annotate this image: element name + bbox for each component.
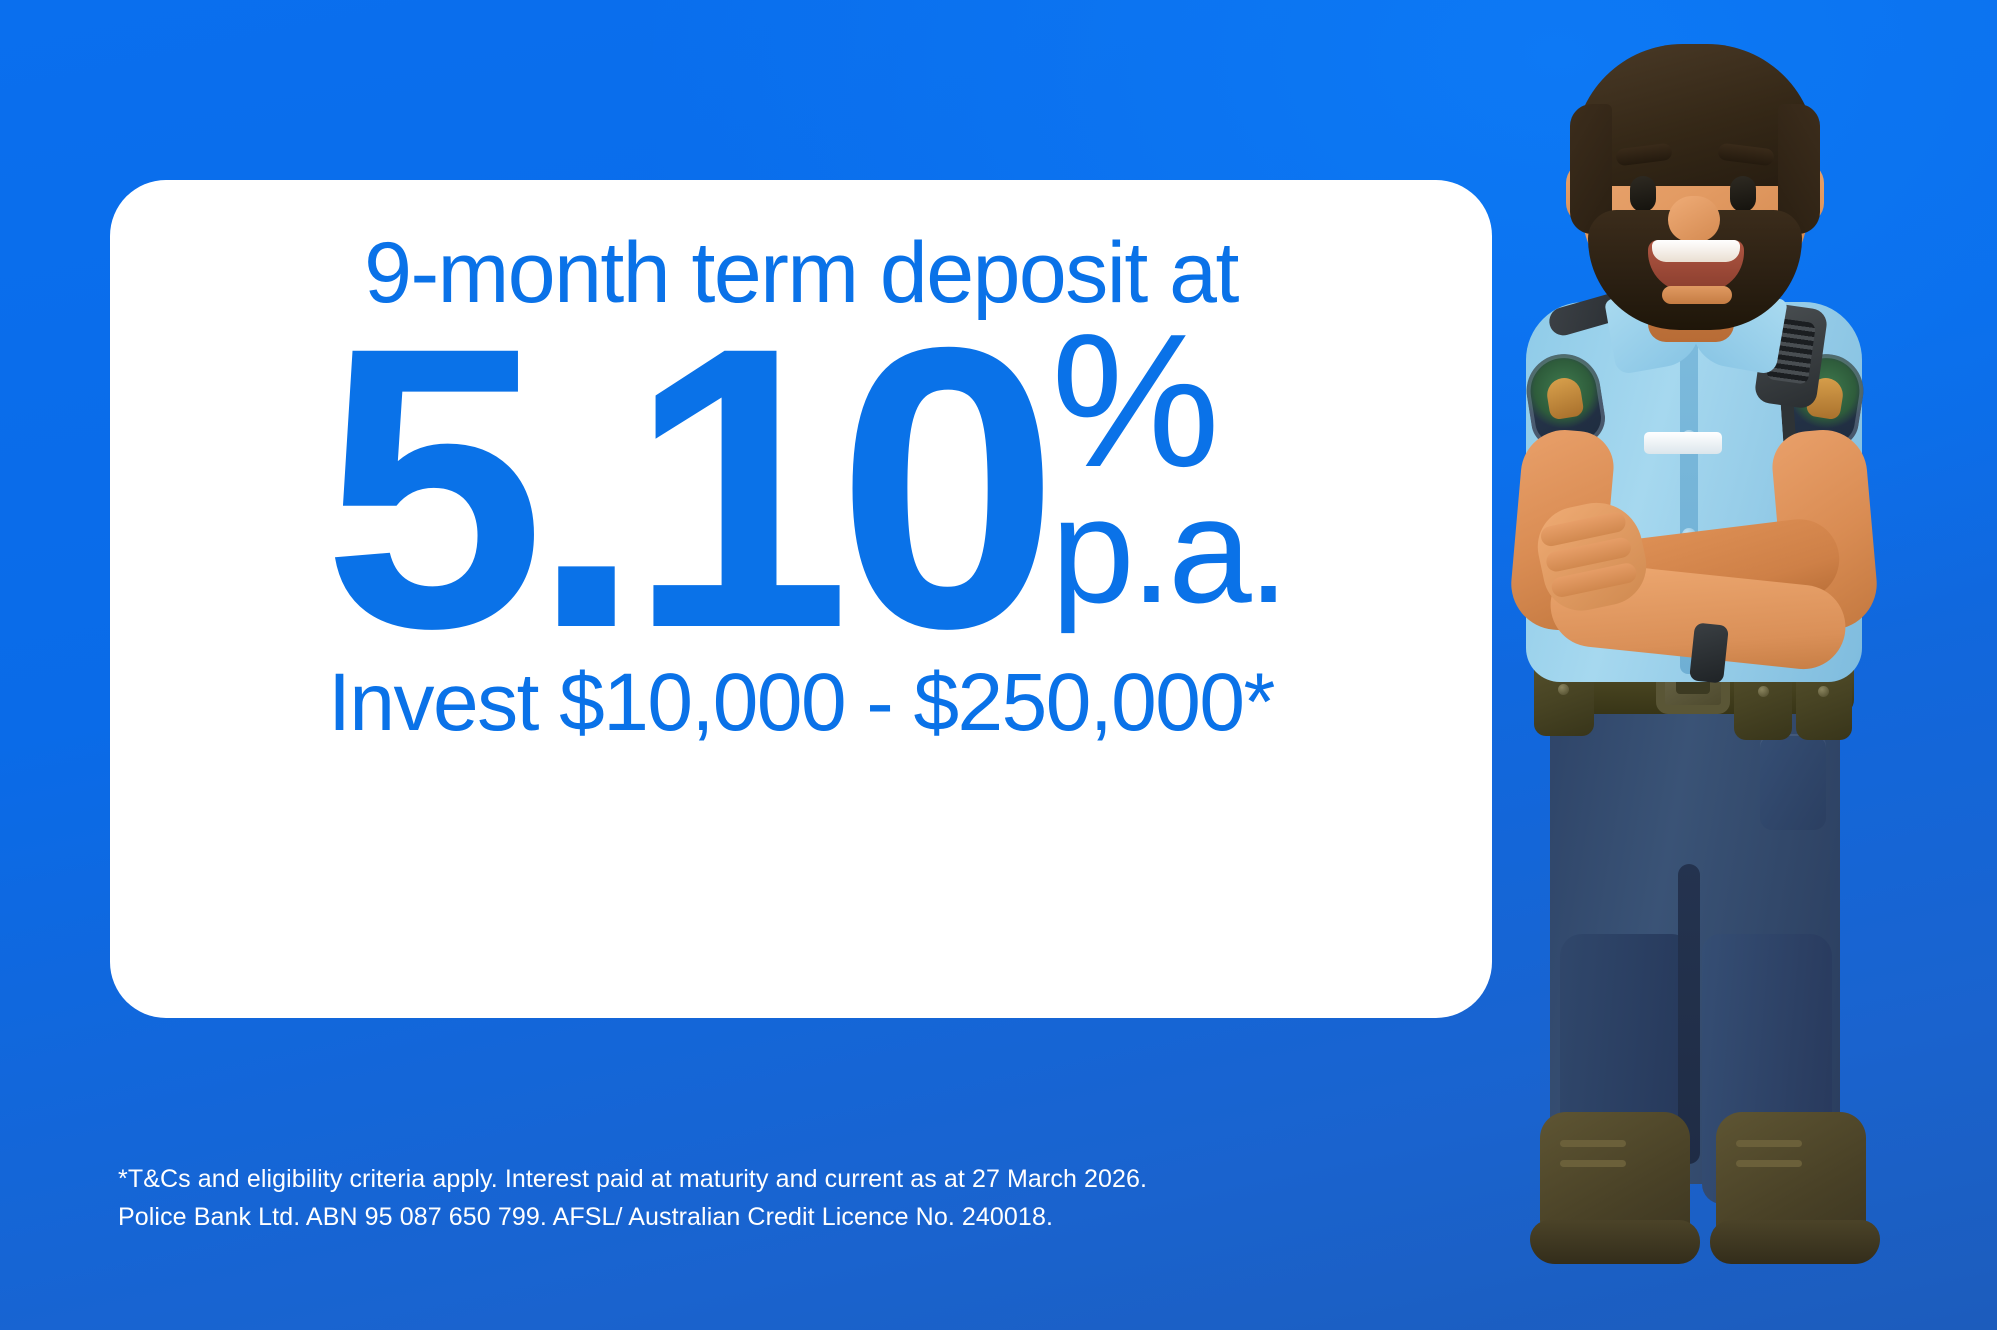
patch-crest (1545, 376, 1585, 421)
lower-lip (1662, 286, 1732, 304)
trouser-pocket (1760, 734, 1826, 830)
left-boot-sole (1530, 1220, 1700, 1264)
promo-banner: 9-month term deposit at 5.10 % p.a. Inve… (0, 0, 1997, 1330)
right-boot-sole (1710, 1220, 1880, 1264)
right-eye (1730, 176, 1756, 212)
pouch-stud (1558, 684, 1569, 695)
teeth (1652, 240, 1740, 262)
disclaimer-line-1: *T&Cs and eligibility criteria apply. In… (118, 1160, 1298, 1198)
pouch-stud (1758, 686, 1769, 697)
left-eye (1630, 176, 1656, 212)
pouch-stud (1818, 686, 1829, 697)
right-boot-lace (1736, 1140, 1802, 1147)
rate-suffix: % p.a. (1051, 318, 1285, 619)
disclaimer: *T&Cs and eligibility criteria apply. In… (118, 1160, 1298, 1236)
rate-lockup: 5.10 % p.a. (170, 312, 1432, 664)
rate-period-label: p.a. (1051, 481, 1285, 619)
name-tag (1644, 432, 1722, 454)
right-boot-lace (1736, 1160, 1802, 1167)
offer-subline: Invest $10,000 - $250,000* (328, 660, 1274, 746)
wrist-watch (1689, 622, 1729, 683)
left-boot-lace (1560, 1160, 1626, 1167)
offer-card: 9-month term deposit at 5.10 % p.a. Inve… (110, 180, 1492, 1018)
left-boot-lace (1560, 1140, 1626, 1147)
rate-value: 5.10 (323, 312, 1046, 664)
disclaimer-line-2: Police Bank Ltd. ABN 95 087 650 799. AFS… (118, 1198, 1298, 1236)
percent-symbol: % (1051, 318, 1216, 485)
nose (1668, 196, 1720, 242)
offer-card-content: 9-month term deposit at 5.10 % p.a. Inve… (110, 180, 1492, 1018)
police-officer-illustration (1430, 34, 1950, 1294)
